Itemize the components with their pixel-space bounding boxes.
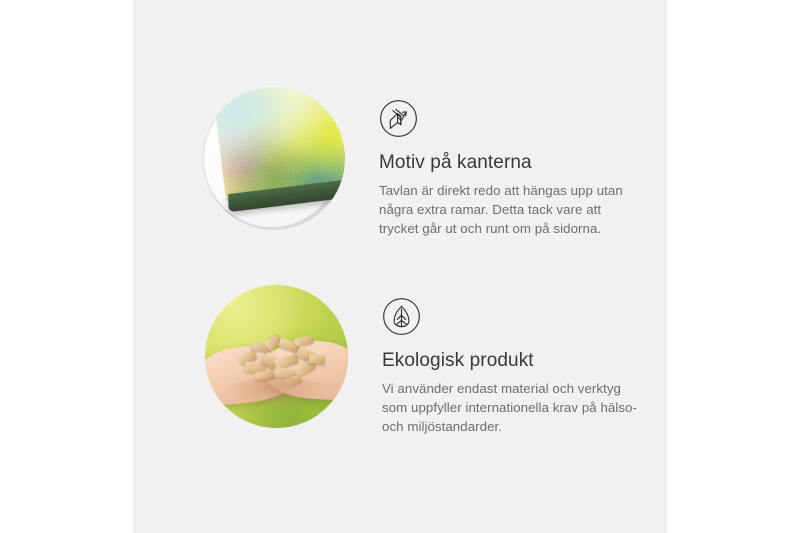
feature-text-block: Ekologisk produkt Vi använder endast mat…	[382, 285, 644, 436]
palm-shadow	[225, 377, 329, 407]
content-panel	[133, 0, 667, 533]
feature-row-motiv-pa-kanterna: Motiv på kanterna Tavlan är direkt redo …	[202, 87, 641, 238]
product-feature-infographic: Motiv på kanterna Tavlan är direkt redo …	[0, 0, 800, 533]
canvas-print-corner-photo	[202, 87, 345, 230]
feature-title: Ekologisk produkt	[382, 349, 644, 373]
hands-holding-wood-chips-photo	[205, 285, 348, 428]
feature-row-ekologisk-produkt: Ekologisk produkt Vi använder endast mat…	[205, 285, 644, 436]
feature-description: Tavlan är direkt redo att hängas upp uta…	[379, 182, 641, 238]
feature-text-block: Motiv på kanterna Tavlan är direkt redo …	[379, 87, 641, 238]
canvas-wrapped-edges-icon	[379, 99, 418, 138]
feature-description: Vi använder endast material och verktyg …	[382, 380, 644, 436]
leaf-icon	[382, 297, 421, 336]
feature-title: Motiv på kanterna	[379, 151, 641, 175]
canvas-print-block	[213, 87, 345, 218]
